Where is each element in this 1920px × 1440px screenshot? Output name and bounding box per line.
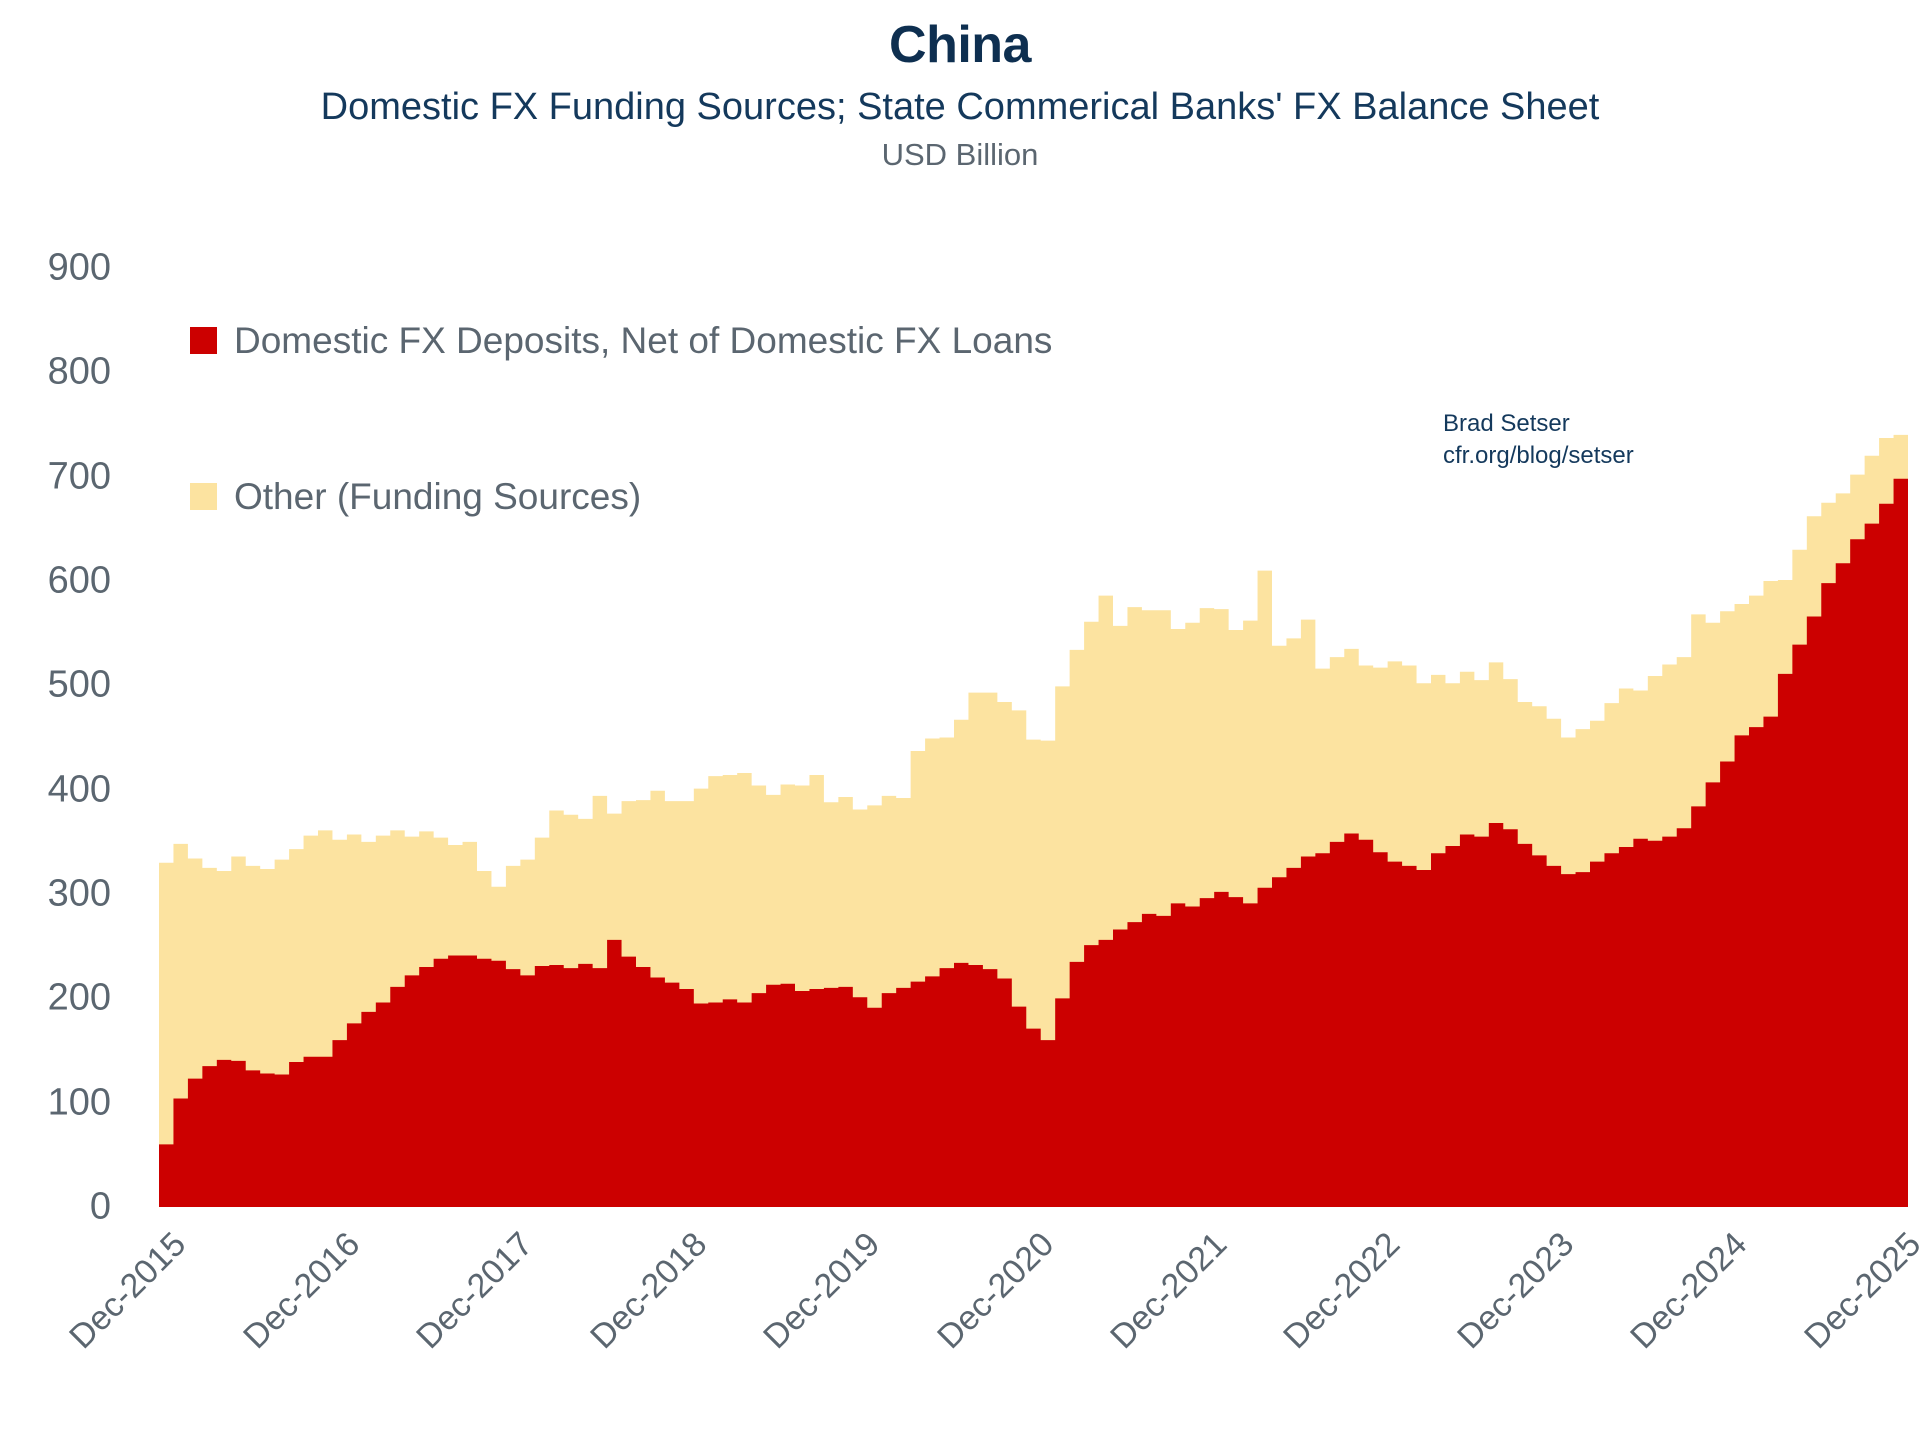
y-axis-tick-label: 300 xyxy=(48,873,111,916)
y-axis-tick-label: 500 xyxy=(48,664,111,707)
x-axis-tick-label: Dec-2022 xyxy=(1277,1225,1409,1357)
legend-swatch-red-icon xyxy=(190,327,217,354)
y-axis-tick-label: 200 xyxy=(48,977,111,1020)
y-axis-tick-label: 100 xyxy=(48,1081,111,1124)
legend-swatch-yellow-icon xyxy=(190,483,217,510)
x-axis-tick-label: Dec-2020 xyxy=(930,1225,1062,1357)
x-axis-tick-label: Dec-2025 xyxy=(1797,1225,1920,1357)
attribution-site: cfr.org/blog/setser xyxy=(1443,440,1634,472)
x-axis-tick-label: Dec-2021 xyxy=(1103,1225,1235,1357)
chart-legend: Domestic FX Deposits, Net of Domestic FX… xyxy=(190,305,1052,531)
attribution: Brad Setser cfr.org/blog/setser xyxy=(1443,408,1634,472)
y-axis: 0100200300400500600700800900 xyxy=(0,268,133,1207)
legend-item-domestic-fx-deposits: Domestic FX Deposits, Net of Domestic FX… xyxy=(190,305,1052,375)
legend-label-domestic-fx-deposits: Domestic FX Deposits, Net of Domestic FX… xyxy=(234,322,1052,359)
legend-item-other-funding-sources: Other (Funding Sources) xyxy=(190,461,1052,531)
attribution-author: Brad Setser xyxy=(1443,408,1634,440)
y-axis-tick-label: 400 xyxy=(48,768,111,811)
legend-label-other-funding-sources: Other (Funding Sources) xyxy=(234,478,641,515)
x-axis-tick-label: Dec-2015 xyxy=(62,1225,194,1357)
x-axis-tick-label: Dec-2024 xyxy=(1623,1225,1755,1357)
x-axis-tick-label: Dec-2018 xyxy=(583,1225,715,1357)
y-axis-tick-label: 600 xyxy=(48,560,111,603)
x-axis-tick-label: Dec-2023 xyxy=(1450,1225,1582,1357)
x-axis-tick-label: Dec-2016 xyxy=(236,1225,368,1357)
y-axis-tick-label: 900 xyxy=(48,247,111,290)
y-axis-tick-label: 700 xyxy=(48,455,111,498)
x-axis-tick-label: Dec-2017 xyxy=(409,1225,541,1357)
page-title: China xyxy=(0,18,1920,73)
x-axis-tick-label: Dec-2019 xyxy=(756,1225,888,1357)
chart-subtitle: Domestic FX Funding Sources; State Comme… xyxy=(0,87,1920,129)
chart-root: China Domestic FX Funding Sources; State… xyxy=(0,0,1920,1440)
chart-units-label: USD Billion xyxy=(0,138,1920,172)
y-axis-tick-label: 0 xyxy=(90,1186,111,1229)
x-axis: Dec-2015Dec-2016Dec-2017Dec-2018Dec-2019… xyxy=(159,1207,1908,1440)
y-axis-tick-label: 800 xyxy=(48,351,111,394)
title-block: China Domestic FX Funding Sources; State… xyxy=(0,18,1920,172)
